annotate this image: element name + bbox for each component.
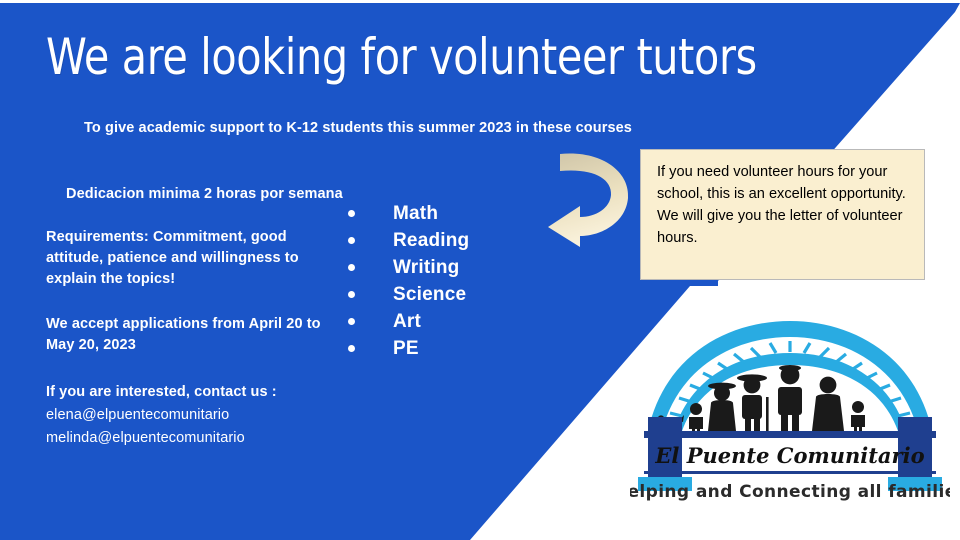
application-period-text: We accept applications from April 20 to … [46,314,346,356]
curved-arrow-icon [532,142,642,247]
requirements-text: Requirements: Commitment, good attitude,… [46,227,346,290]
contact-heading: If you are interested, contact us : [46,382,346,403]
list-item: Science [348,281,469,308]
bullet-dot-icon [348,291,355,298]
course-label: Reading [393,231,469,250]
dedication-text: Dedicacion minima 2 horas por semana [66,184,346,205]
bullet-dot-icon [348,210,355,217]
flyer-canvas: We are looking for volunteer tutors To g… [0,0,960,540]
contact-email-elena[interactable]: elena@elpuentecomunitario [46,404,346,426]
volunteer-hours-note: If you need volunteer hours for your sch… [640,149,925,280]
course-label: Science [393,285,466,304]
courses-list: Math Reading Writing Science Art PE [348,200,469,362]
list-item: Writing [348,254,469,281]
subtitle: To give academic support to K-12 student… [78,118,638,139]
bullet-dot-icon [348,345,355,352]
page-title: We are looking for volunteer tutors [46,30,757,84]
left-info-column: Dedicacion minima 2 horas por semana Req… [46,184,346,449]
note-text: If you need volunteer hours for your sch… [657,164,906,246]
bridge-logo-icon: El Puente Comunitario Helping and Connec… [630,305,950,501]
course-label: Math [393,204,438,223]
bullet-dot-icon [348,264,355,271]
bullet-dot-icon [348,237,355,244]
course-label: PE [393,339,419,358]
bullet-dot-icon [348,318,355,325]
list-item: PE [348,335,469,362]
logo-org-name: El Puente Comunitario [654,443,924,468]
list-item: Art [348,308,469,335]
course-label: Writing [393,258,459,277]
course-label: Art [393,312,421,331]
list-item: Reading [348,227,469,254]
logo-tagline: Helping and Connecting all families [630,482,950,501]
contact-email-melinda[interactable]: melinda@elpuentecomunitario [46,427,346,449]
list-item: Math [348,200,469,227]
